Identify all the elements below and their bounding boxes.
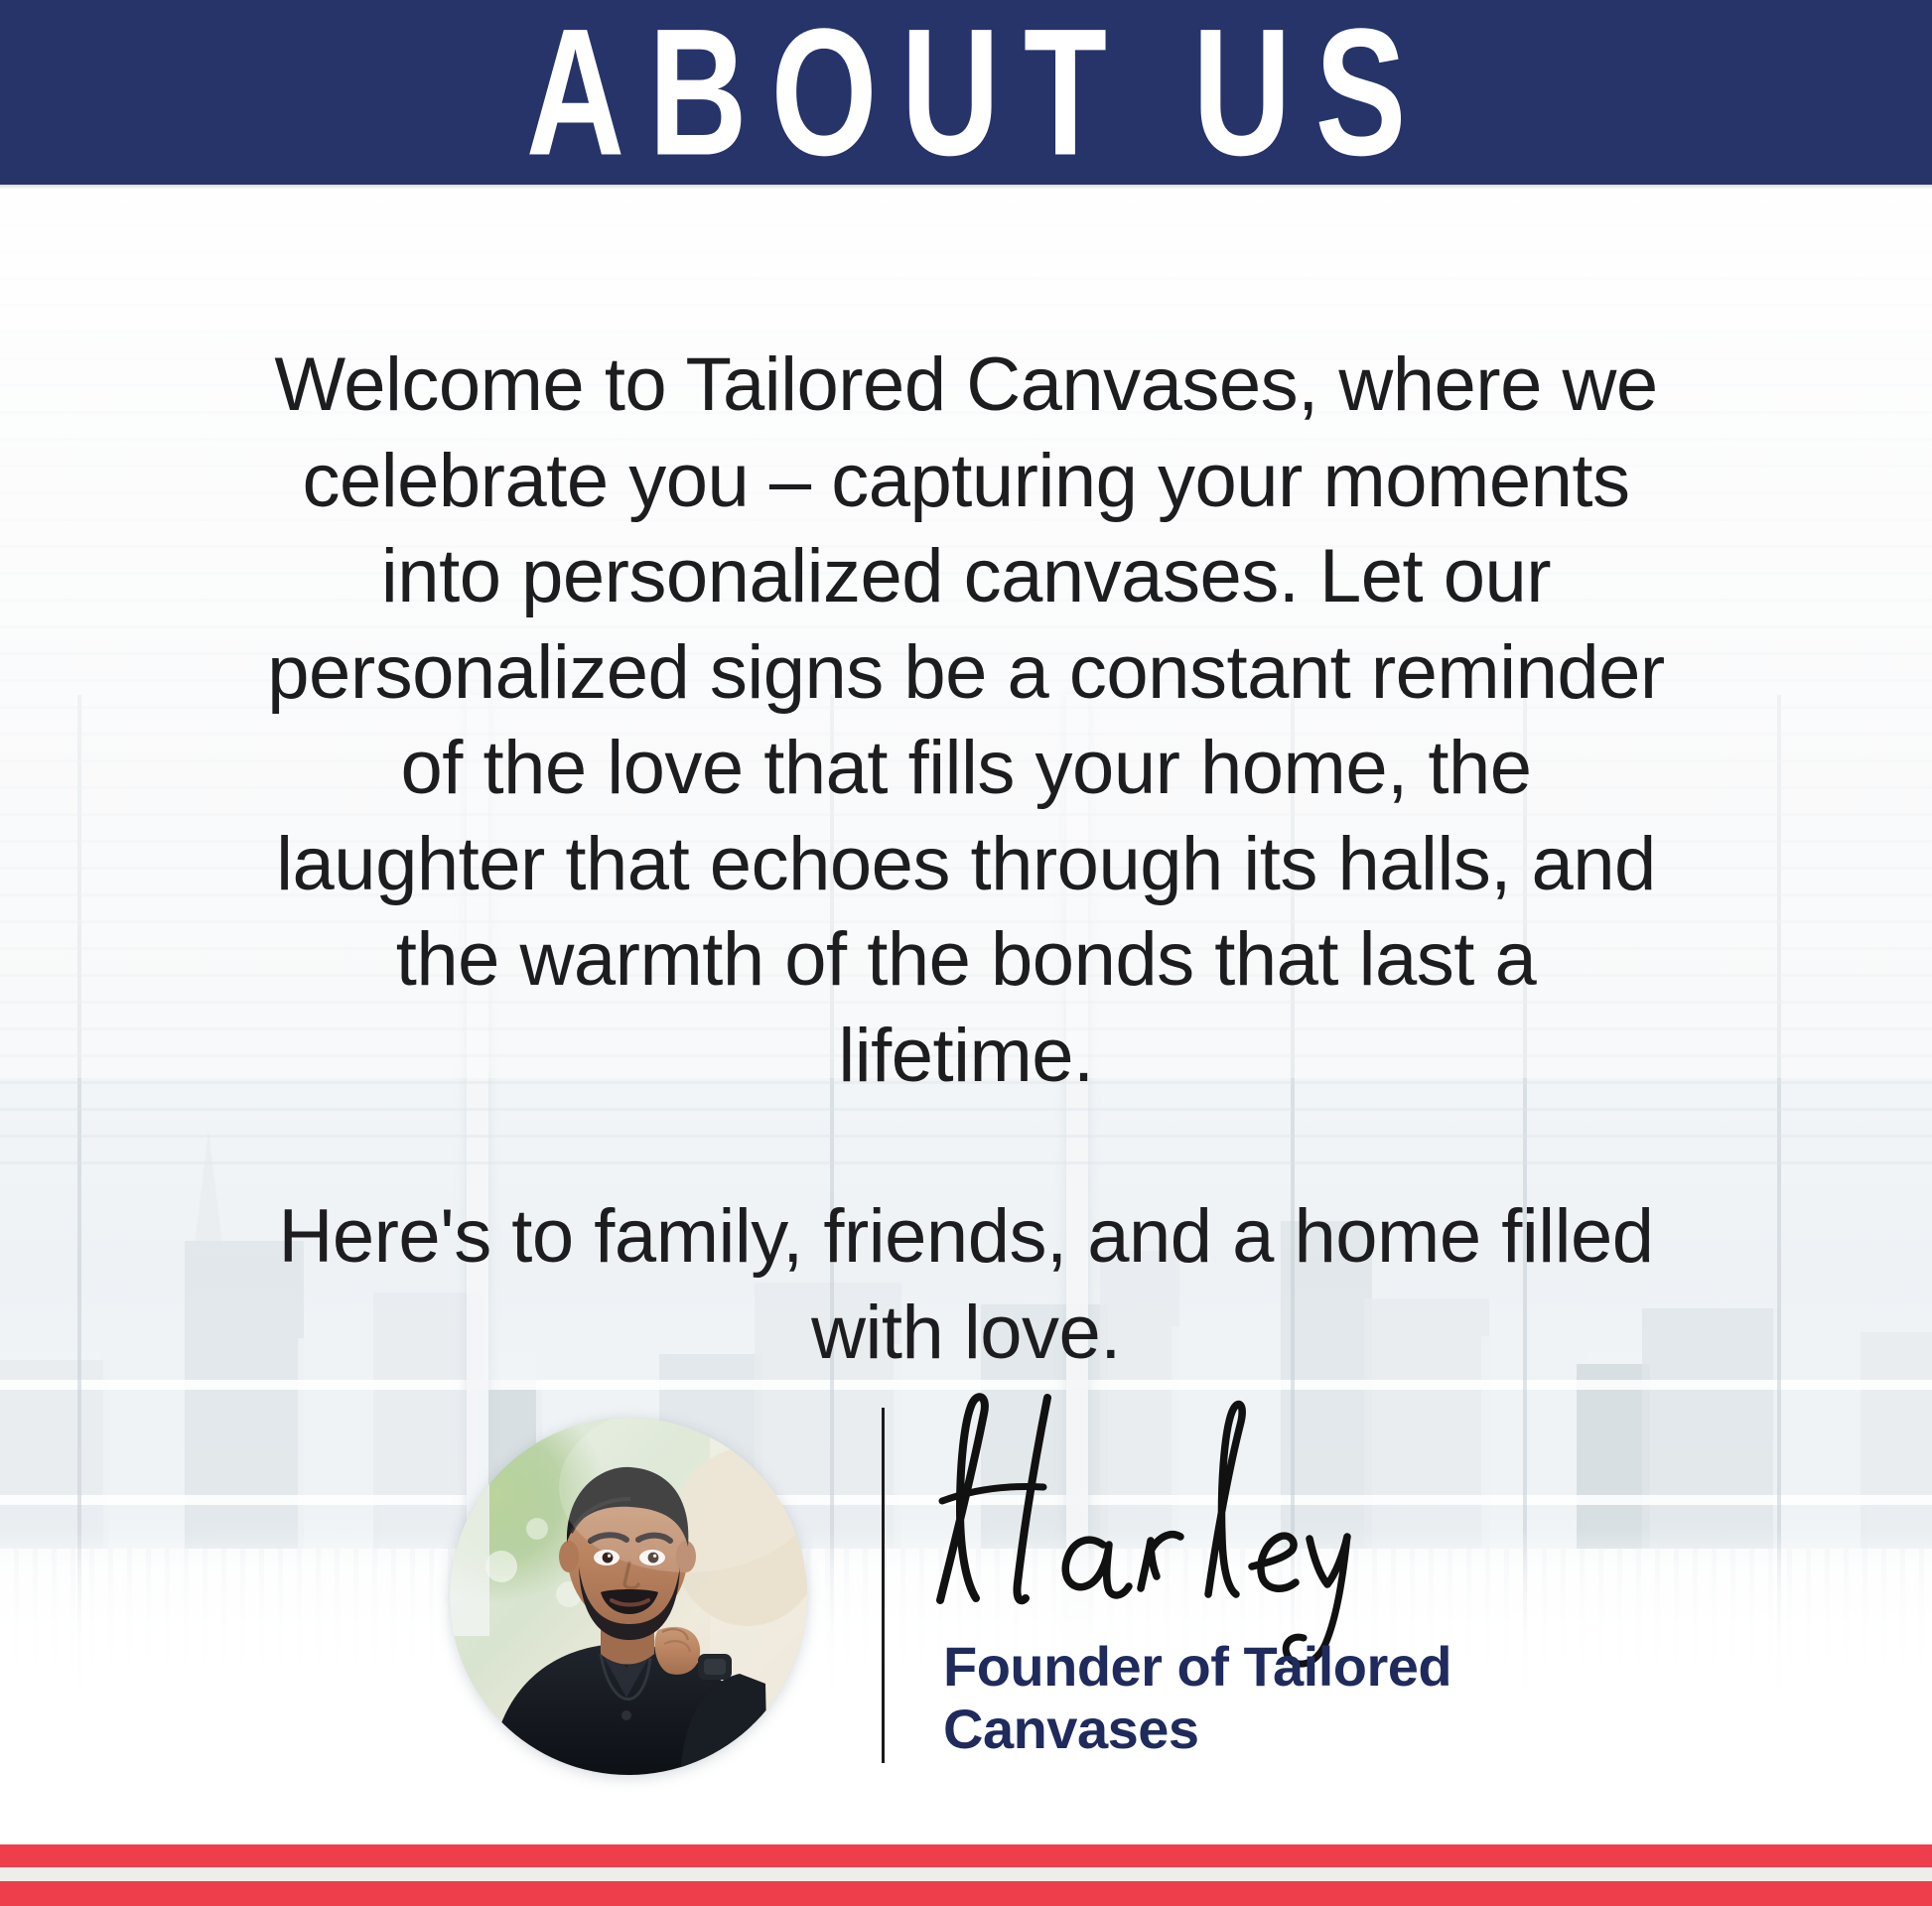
header-underline xyxy=(0,185,1932,190)
founder-role-line-1: Founder of Tailored xyxy=(943,1636,1618,1699)
footer-stripe-gap xyxy=(0,1867,1932,1881)
founder-role: Founder of Tailored Canvases xyxy=(943,1636,1618,1760)
founder-signature xyxy=(898,1370,1534,1668)
signature-divider xyxy=(882,1408,885,1763)
body-paragraph-1: Welcome to Tailored Canvases, where we c… xyxy=(261,338,1671,1104)
footer-stripe-bottom xyxy=(0,1881,1932,1906)
header-banner: ABOUT US xyxy=(0,0,1932,185)
footer-stripe-top xyxy=(0,1844,1932,1867)
founder-avatar xyxy=(450,1418,807,1775)
paragraph-spacer xyxy=(261,1104,1671,1189)
page-title: ABOUT US xyxy=(502,2,1431,183)
about-us-poster: ABOUT US Welcome to Tailored Canvases, w… xyxy=(0,0,1932,1906)
about-us-body: Welcome to Tailored Canvases, where we c… xyxy=(261,338,1671,1381)
signature-block: Founder of Tailored Canvases xyxy=(0,1400,1932,1797)
body-paragraph-2: Here's to family, friends, and a home fi… xyxy=(261,1189,1671,1381)
founder-role-line-2: Canvases xyxy=(943,1699,1618,1761)
